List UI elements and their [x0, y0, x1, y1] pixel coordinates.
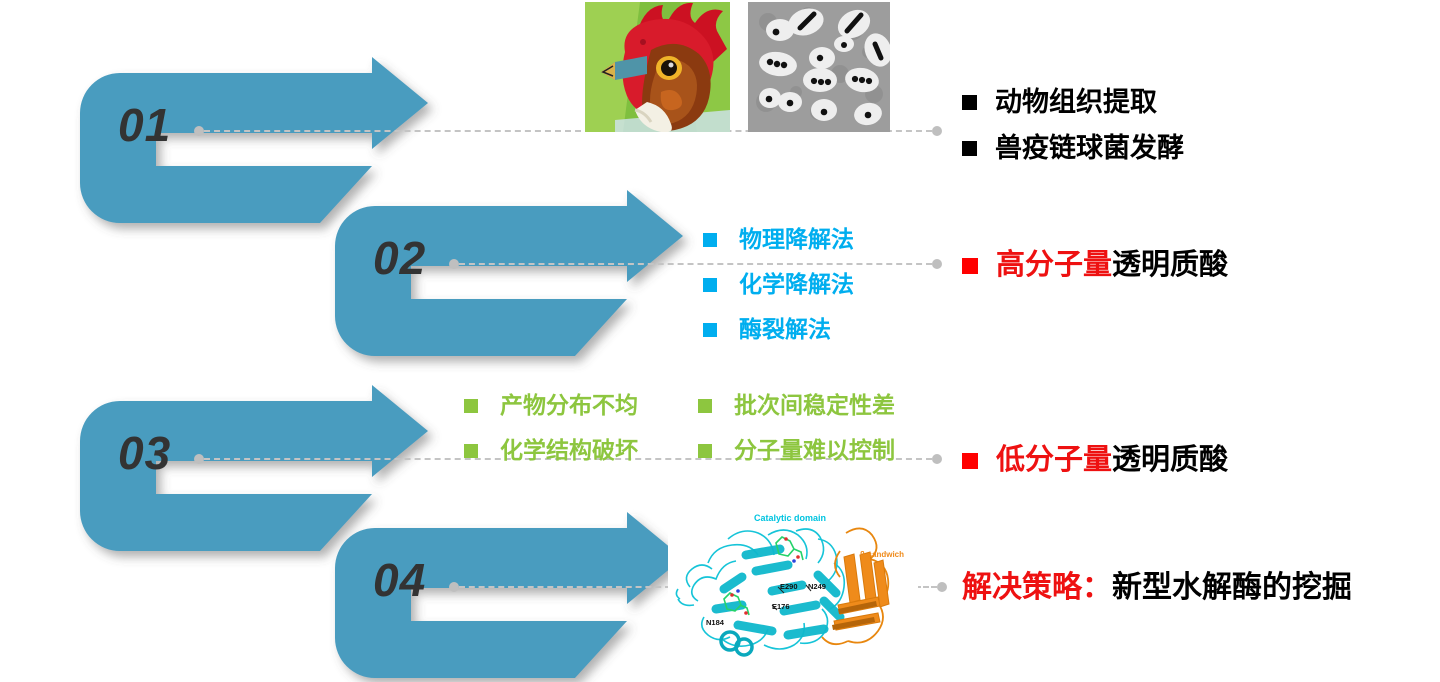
list-item: 产物分布不均: [464, 390, 664, 421]
residue-label-e176: E176: [772, 602, 790, 611]
list-item-label: 化学降解法: [739, 269, 854, 300]
hyaluronidase-structure: Catalytic domain β-sandwich E290 N249 E1…: [668, 505, 918, 677]
step-number-04: 04: [373, 557, 426, 603]
highlight-black-text: 透明质酸: [1112, 249, 1228, 281]
step-number-02: 02: [373, 235, 426, 281]
step-02-right-text: 高分子量透明质酸: [962, 246, 1228, 285]
connector-dot-left-02: [449, 259, 459, 269]
square-bullet-icon: [464, 399, 478, 413]
square-bullet-icon: [962, 453, 978, 469]
infographic-canvas: 01: [0, 0, 1440, 682]
connector-dot-right-02: [932, 259, 942, 269]
list-item-label: 批次间稳定性差: [734, 390, 895, 421]
square-bullet-icon: [703, 278, 717, 292]
protein-structure-art: Catalytic domain β-sandwich E290 N249 E1…: [668, 505, 918, 677]
highlight-label: 高分子量透明质酸: [996, 246, 1228, 285]
highlight-item: 高分子量透明质酸: [962, 246, 1228, 285]
rooster-photo: [585, 2, 730, 132]
square-bullet-icon: [962, 141, 977, 156]
square-bullet-icon: [698, 399, 712, 413]
square-bullet-icon: [464, 444, 478, 458]
strategy-black-text: 新型水解酶的挖掘: [1112, 571, 1352, 604]
step-04-right-text: 解决策略：新型水解酶的挖掘: [962, 568, 1352, 609]
step-03-right-text: 低分子量透明质酸: [962, 441, 1228, 480]
square-bullet-icon: [698, 444, 712, 458]
list-item: 化学降解法: [703, 269, 854, 300]
connector-dash-04b: [915, 586, 937, 588]
list-item: 兽疫链球菌发酵: [962, 130, 1184, 166]
list-item: 物理降解法: [703, 224, 854, 255]
list-item: 批次间稳定性差: [698, 390, 895, 421]
list-item-label: 动物组织提取: [995, 84, 1157, 120]
step-number-01: 01: [118, 102, 171, 148]
strategy-item: 解决策略：新型水解酶的挖掘: [962, 568, 1352, 609]
connector-02: [449, 259, 942, 269]
connector-dot-left-01: [194, 126, 204, 136]
list-item-label: 物理降解法: [739, 224, 854, 255]
residue-label-n184: N184: [706, 618, 725, 627]
connector-04-right: [915, 582, 947, 592]
square-bullet-icon: [962, 95, 977, 110]
list-item: 分子量难以控制: [698, 435, 895, 466]
list-item-label: 兽疫链球菌发酵: [995, 130, 1184, 166]
connector-dot-right-04: [937, 582, 947, 592]
residue-label-n249: N249: [808, 582, 826, 591]
step-03-middle-text: 产物分布不均 批次间稳定性差 化学结构破坏 分子量难以控制: [464, 390, 895, 466]
connector-dot-left-04: [449, 582, 459, 592]
highlight-red-text: 高分子量: [996, 249, 1112, 281]
square-bullet-icon: [703, 233, 717, 247]
list-item: 酶裂解法: [703, 314, 854, 345]
list-item-label: 化学结构破坏: [500, 435, 638, 466]
step-number-03: 03: [118, 430, 171, 476]
connector-dot-right-03: [932, 454, 942, 464]
catalytic-domain-label: Catalytic domain: [754, 513, 826, 523]
square-bullet-icon: [703, 323, 717, 337]
connector-dot-right-01: [932, 126, 942, 136]
highlight-black-text: 透明质酸: [1112, 444, 1228, 476]
highlight-label: 低分子量透明质酸: [996, 441, 1228, 480]
highlight-item: 低分子量透明质酸: [962, 441, 1228, 480]
list-item-label: 分子量难以控制: [734, 435, 895, 466]
list-item: 化学结构破坏: [464, 435, 664, 466]
connector-dash-04: [459, 586, 671, 588]
connector-04: [449, 582, 671, 592]
step-01-right-text: 动物组织提取 兽疫链球菌发酵: [962, 84, 1184, 167]
list-item-label: 酶裂解法: [739, 314, 831, 345]
beta-sandwich-label: β-sandwich: [860, 550, 904, 559]
connector-dash-02: [459, 263, 932, 265]
strategy-label: 解决策略：新型水解酶的挖掘: [962, 568, 1352, 609]
micrograph-art: [748, 2, 890, 132]
strategy-red-text: 解决策略：: [962, 571, 1112, 604]
connector-dot-left-03: [194, 454, 204, 464]
rooster-photo-art: [585, 2, 730, 132]
highlight-red-text: 低分子量: [996, 444, 1112, 476]
square-bullet-icon: [962, 258, 978, 274]
residue-label-e290: E290: [780, 582, 798, 591]
list-item-label: 产物分布不均: [500, 390, 638, 421]
streptococcus-micrograph: [748, 2, 890, 132]
step-02-middle-text: 物理降解法 化学降解法 酶裂解法: [703, 224, 854, 345]
list-item: 动物组织提取: [962, 84, 1184, 120]
